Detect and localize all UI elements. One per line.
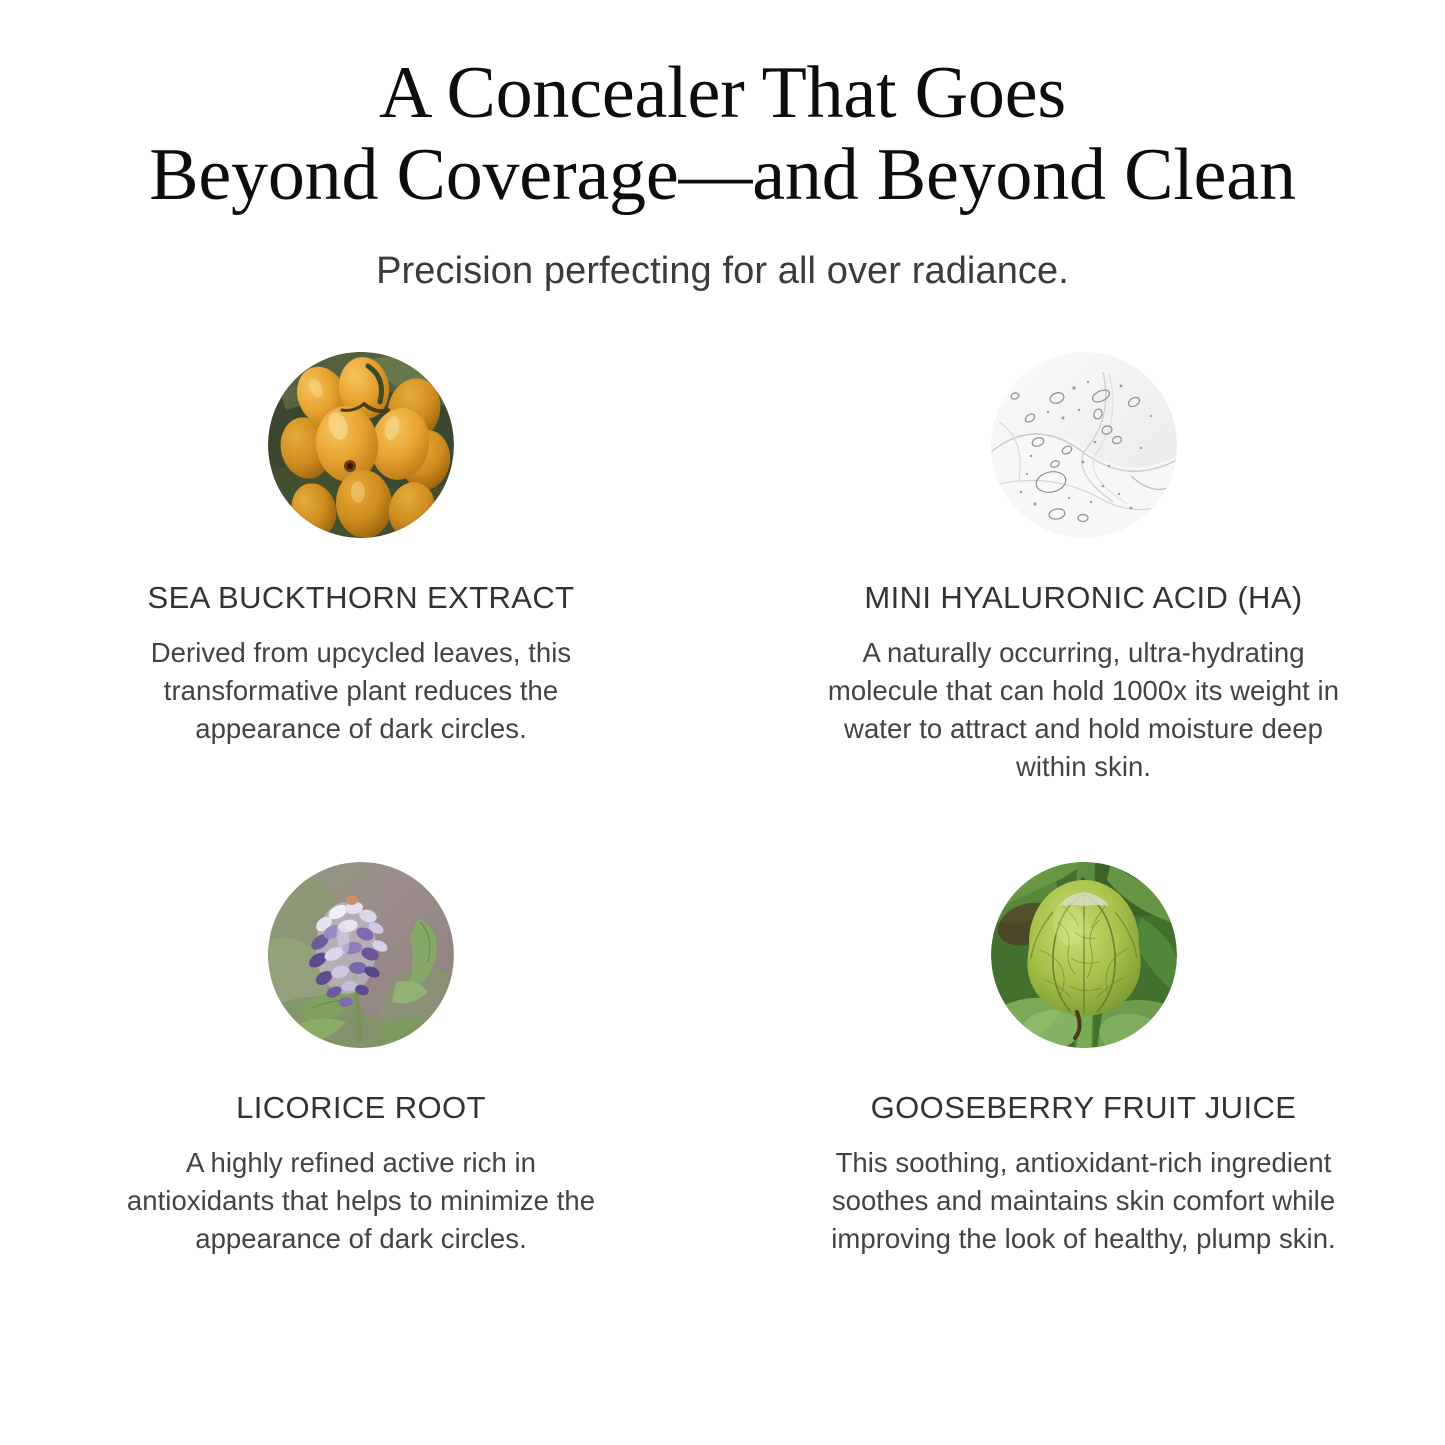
ingredient-description: A naturally occurring, ultra-hydrating m…: [819, 634, 1349, 786]
ingredient-infographic: A Concealer That Goes Beyond Coverage—an…: [0, 0, 1445, 1445]
page-subtitle: Precision perfecting for all over radian…: [0, 248, 1445, 294]
sea-buckthorn-berries-photo: [268, 352, 454, 538]
ingredient-title: SEA BUCKTHORN EXTRACT: [148, 580, 575, 616]
ingredient-card-sea-buckthorn: SEA BUCKTHORN EXTRACT Derived from upcyc…: [0, 352, 722, 862]
gooseberry-husk-photo: [991, 862, 1177, 1048]
ingredient-title: GOOSEBERRY FRUIT JUICE: [871, 1090, 1297, 1126]
ingredient-card-gooseberry: GOOSEBERRY FRUIT JUICE This soothing, an…: [722, 862, 1445, 1258]
ingredient-card-hyaluronic-acid: MINI HYALURONIC ACID (HA) A naturally oc…: [722, 352, 1445, 862]
licorice-root-flower-photo: [268, 862, 454, 1048]
hyaluronic-acid-gel-texture-photo: [991, 352, 1177, 538]
page-title: A Concealer That Goes Beyond Coverage—an…: [93, 52, 1353, 216]
header: A Concealer That Goes Beyond Coverage—an…: [0, 0, 1445, 294]
ingredient-description: This soothing, antioxidant-rich ingredie…: [819, 1144, 1349, 1258]
ingredient-title: MINI HYALURONIC ACID (HA): [864, 580, 1302, 616]
ingredient-card-licorice-root: LICORICE ROOT A highly refined active ri…: [0, 862, 722, 1258]
ingredient-description: A highly refined active rich in antioxid…: [126, 1144, 596, 1258]
ingredient-description: Derived from upcycled leaves, this trans…: [126, 634, 596, 748]
ingredient-title: LICORICE ROOT: [236, 1090, 486, 1126]
ingredient-grid: SEA BUCKTHORN EXTRACT Derived from upcyc…: [0, 352, 1445, 1258]
